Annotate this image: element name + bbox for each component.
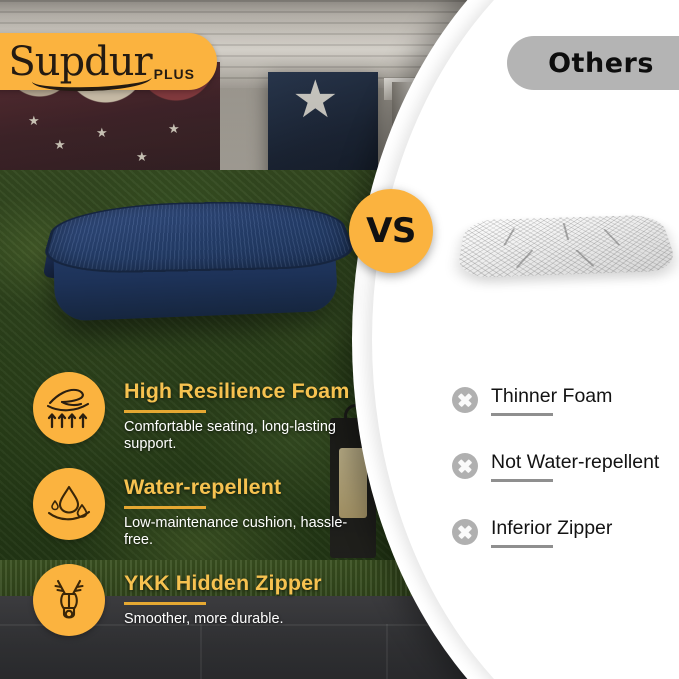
product-image-other-cushion xyxy=(462,186,674,304)
cushion-top-surface xyxy=(38,200,361,275)
feature-title: High Resilience Foam xyxy=(124,381,373,403)
feature-item: High Resilience Foam Comfortable seating… xyxy=(33,372,373,444)
comparison-infographic: ★ ★ ★ ★ ★ xyxy=(0,0,679,679)
con-title: Not Water-repellent xyxy=(491,452,659,472)
con-text: Not Water-repellent xyxy=(491,452,659,482)
feature-item: YKK Hidden Zipper Smoother, more durable… xyxy=(33,564,373,636)
x-circle-icon xyxy=(452,519,478,545)
feature-subtitle: Low-maintenance cushion, hassle-free. xyxy=(124,515,373,550)
brand-suffix: PLUS xyxy=(154,66,195,82)
product-image-our-cushion xyxy=(40,168,350,328)
con-divider xyxy=(491,413,553,416)
con-divider xyxy=(491,479,553,482)
feature-item: Water-repellent Low-maintenance cushion,… xyxy=(33,468,373,540)
brand-logo: Supdur PLUS xyxy=(8,42,195,82)
water-drop-glyph xyxy=(46,482,92,526)
water-drop-icon xyxy=(33,468,105,540)
zipper-glyph xyxy=(47,576,91,624)
competitor-label: Others xyxy=(548,48,654,79)
feature-text: YKK Hidden Zipper Smoother, more durable… xyxy=(124,564,322,628)
zipper-icon xyxy=(33,564,105,636)
feature-title: YKK Hidden Zipper xyxy=(124,573,322,595)
con-text: Inferior Zipper xyxy=(491,518,612,548)
feature-divider xyxy=(124,602,206,605)
feature-divider xyxy=(124,506,206,509)
con-title: Inferior Zipper xyxy=(491,518,612,538)
feature-list: High Resilience Foam Comfortable seating… xyxy=(33,372,373,660)
vs-label: VS xyxy=(366,211,416,251)
competitor-badge: Others xyxy=(507,36,679,90)
x-circle-icon xyxy=(452,453,478,479)
feature-text: High Resilience Foam Comfortable seating… xyxy=(124,372,373,453)
brand-logo-badge: Supdur PLUS xyxy=(0,33,217,90)
feature-text: Water-repellent Low-maintenance cushion,… xyxy=(124,468,373,549)
con-item: Inferior Zipper xyxy=(452,518,678,548)
feature-title: Water-repellent xyxy=(124,477,373,499)
other-cushion-body xyxy=(456,215,679,279)
competitor-cons-list: Thinner Foam Not Water-repellent Inferio… xyxy=(452,386,678,584)
con-item: Not Water-repellent xyxy=(452,452,678,482)
foam-support-glyph xyxy=(45,385,93,431)
con-item: Thinner Foam xyxy=(452,386,678,416)
feature-subtitle: Comfortable seating, long-lasting suppor… xyxy=(124,419,373,454)
x-circle-icon xyxy=(452,387,478,413)
con-title: Thinner Foam xyxy=(491,386,612,406)
feature-subtitle: Smoother, more durable. xyxy=(124,611,322,628)
feature-divider xyxy=(124,410,206,413)
con-divider xyxy=(491,545,553,548)
vs-badge: VS xyxy=(349,189,433,273)
foam-support-icon xyxy=(33,372,105,444)
con-text: Thinner Foam xyxy=(491,386,612,416)
